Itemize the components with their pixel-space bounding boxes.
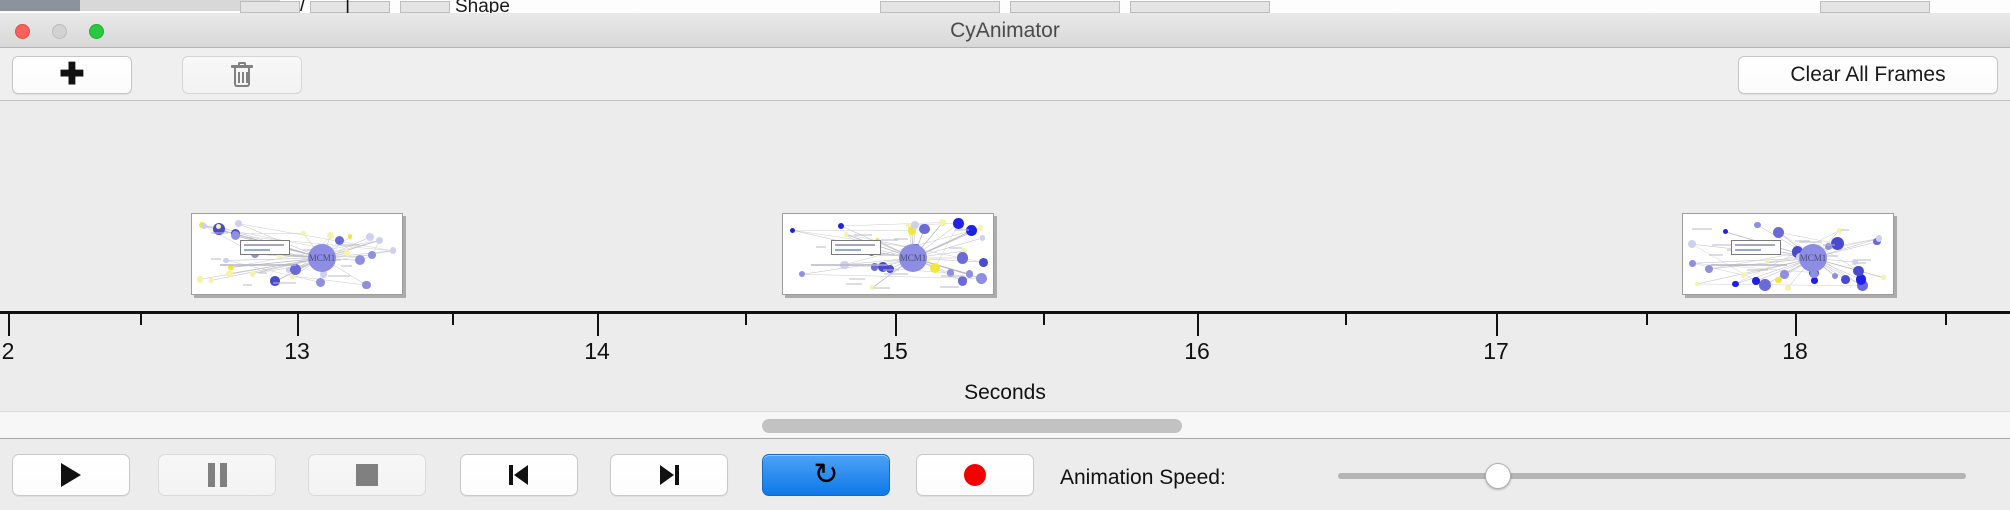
axis-tick — [1043, 314, 1045, 325]
network-node — [958, 276, 968, 286]
network-node-label — [1709, 254, 1723, 256]
network-node-label — [854, 234, 872, 236]
cyanimator-window: / | Shape CyAnimator ✚ Clear — [0, 0, 2010, 510]
network-node-label — [273, 282, 297, 284]
timeline-axis — [0, 311, 2010, 314]
background-control-3 — [400, 1, 450, 13]
scrollbar-thumb[interactable] — [762, 419, 1182, 433]
network-thumbnail: MCM1 — [1683, 214, 1893, 294]
axis-tick — [1646, 314, 1648, 325]
skip-next-button[interactable] — [610, 454, 728, 496]
network-node-label — [1825, 255, 1838, 257]
network-node — [1876, 235, 1883, 242]
background-glyph-1: / — [300, 0, 306, 13]
axis-tick — [1345, 314, 1347, 325]
network-node-label — [955, 229, 968, 231]
network-node-label — [874, 287, 890, 289]
network-node — [919, 224, 929, 234]
animation-speed-label: Animation Speed: — [1060, 466, 1226, 490]
record-button[interactable] — [916, 454, 1034, 496]
timeline-frame[interactable]: MCM1 — [782, 213, 994, 295]
network-node — [1785, 285, 1791, 291]
axis-tick — [1945, 314, 1947, 325]
network-node — [270, 276, 280, 286]
network-node — [226, 270, 232, 276]
network-node-label — [1692, 228, 1712, 230]
clear-all-frames-label: Clear All Frames — [1790, 63, 1945, 87]
network-node — [1689, 260, 1696, 267]
network-node-label — [1857, 262, 1865, 264]
network-node — [250, 271, 256, 277]
network-caption — [811, 264, 887, 266]
network-thumbnail: MCM1 — [192, 214, 402, 294]
network-node — [344, 250, 349, 255]
background-control-4 — [880, 1, 1000, 13]
network-node-label — [1747, 269, 1768, 271]
network-node — [966, 225, 977, 236]
skip-next-icon — [657, 463, 681, 487]
network-caption — [1711, 264, 1787, 266]
axis-tick-label: 13 — [284, 338, 310, 365]
axis-tick-label: 16 — [1184, 338, 1210, 365]
axis-tick-label: 14 — [584, 338, 610, 365]
axis-tick — [452, 314, 454, 325]
network-node — [1732, 281, 1738, 287]
background-control-5 — [1010, 1, 1120, 13]
axis-tick-label: 15 — [882, 338, 908, 365]
animation-speed-thumb[interactable] — [1485, 463, 1511, 489]
network-node-label — [949, 247, 962, 249]
network-node — [1752, 277, 1760, 285]
network-node — [1841, 275, 1850, 284]
network-node — [939, 219, 946, 226]
add-frame-button[interactable]: ✚ — [12, 56, 132, 94]
network-node — [953, 218, 964, 229]
play-button[interactable] — [12, 454, 130, 496]
network-node-label — [883, 269, 899, 271]
network-caption — [220, 264, 296, 266]
network-annotation-box — [1731, 240, 1781, 255]
network-node-label — [341, 265, 352, 267]
network-node — [1773, 227, 1784, 238]
network-node — [979, 258, 988, 267]
network-annotation-box — [240, 240, 290, 255]
network-node-label — [259, 272, 267, 274]
axis-tick — [745, 314, 747, 325]
stop-icon — [356, 464, 378, 486]
axis-tick — [1496, 314, 1498, 336]
network-node — [301, 231, 305, 235]
network-node — [1811, 277, 1818, 284]
network-node-label — [941, 275, 964, 277]
network-node — [1695, 282, 1700, 287]
network-node — [911, 221, 919, 229]
axis-tick-label: 18 — [1782, 338, 1808, 365]
axis-tick — [8, 314, 10, 336]
axis-title: Seconds — [0, 381, 2010, 405]
background-window-strip: / | Shape — [0, 0, 2010, 13]
playback-control-bar: ↻ Animation Speed: — [0, 440, 2010, 510]
axis-tick — [1795, 314, 1797, 336]
background-control-6 — [1130, 1, 1270, 13]
axis-tick-label: 17 — [1483, 338, 1509, 365]
timeline-panel[interactable]: MCM1MCM1MCM1 2131415161718 Seconds — [0, 101, 2010, 411]
axis-tick — [297, 314, 299, 336]
axis-tick-label: 2 — [2, 338, 15, 365]
loop-button[interactable]: ↻ — [762, 454, 890, 496]
network-node — [1853, 266, 1863, 276]
axis-tick — [140, 314, 142, 325]
network-node-label — [940, 286, 959, 288]
pause-icon — [208, 463, 227, 487]
background-control-7 — [1820, 1, 1930, 13]
network-node-label — [211, 258, 222, 260]
axis-tick — [1197, 314, 1199, 336]
network-node — [235, 220, 242, 227]
network-node-label — [1857, 259, 1871, 261]
network-node — [844, 232, 848, 236]
network-node-label — [1795, 240, 1810, 242]
network-node-label — [846, 283, 861, 285]
stop-button[interactable] — [308, 454, 426, 496]
background-control-1 — [240, 1, 300, 13]
toolbar: ✚ Clear All Frames — [0, 48, 2010, 101]
background-titlebar-dark — [0, 0, 80, 11]
network-node — [348, 234, 352, 238]
network-node — [966, 270, 974, 278]
network-node — [1881, 275, 1886, 280]
network-hub-node: MCM1 — [1799, 244, 1827, 272]
network-node-label — [884, 273, 908, 275]
animation-speed-slider[interactable] — [1338, 473, 1966, 479]
network-node — [1741, 272, 1747, 278]
pause-button[interactable] — [158, 454, 276, 496]
network-node-label — [894, 238, 908, 240]
network-node — [201, 223, 207, 229]
network-node — [980, 235, 985, 240]
trash-icon — [231, 62, 253, 88]
delete-frame-button[interactable] — [182, 56, 302, 94]
network-node — [1759, 279, 1771, 291]
axis-tick — [597, 314, 599, 336]
network-hub-node: MCM1 — [308, 244, 336, 272]
background-window-label: Shape — [455, 0, 510, 13]
window-title: CyAnimator — [0, 13, 2010, 48]
clear-all-frames-button[interactable]: Clear All Frames — [1738, 56, 1998, 94]
network-node-label — [1823, 244, 1835, 246]
network-node-label — [1841, 229, 1849, 231]
network-node — [1775, 277, 1781, 283]
record-icon — [964, 464, 986, 486]
skip-previous-button[interactable] — [460, 454, 578, 496]
network-node-label — [328, 275, 350, 277]
network-node-label — [341, 244, 359, 246]
plus-icon: ✚ — [59, 60, 84, 90]
play-icon — [61, 463, 81, 487]
timeline-scrollbar[interactable] — [0, 411, 2010, 439]
network-node — [209, 278, 213, 282]
network-node — [197, 276, 203, 282]
title-bar[interactable]: CyAnimator — [0, 13, 2010, 48]
axis-tick — [895, 314, 897, 336]
timeline-frame[interactable]: MCM1 — [191, 213, 403, 295]
network-node-label — [849, 278, 865, 280]
network-node-label — [211, 232, 229, 234]
network-node-label — [880, 254, 894, 256]
skip-previous-icon — [507, 463, 531, 487]
timeline-frame[interactable]: MCM1 — [1682, 213, 1894, 295]
network-node-label — [243, 284, 252, 286]
network-node — [1856, 274, 1866, 284]
network-hub-node: MCM1 — [899, 244, 927, 272]
background-glyph-2: | — [345, 0, 350, 13]
network-node — [957, 252, 968, 263]
network-node — [362, 281, 371, 290]
network-node — [376, 237, 383, 244]
network-node-label — [816, 246, 826, 248]
network-thumbnail: MCM1 — [783, 214, 993, 294]
network-annotation-box — [831, 240, 881, 255]
network-node — [223, 258, 228, 263]
loop-icon: ↻ — [813, 460, 838, 490]
